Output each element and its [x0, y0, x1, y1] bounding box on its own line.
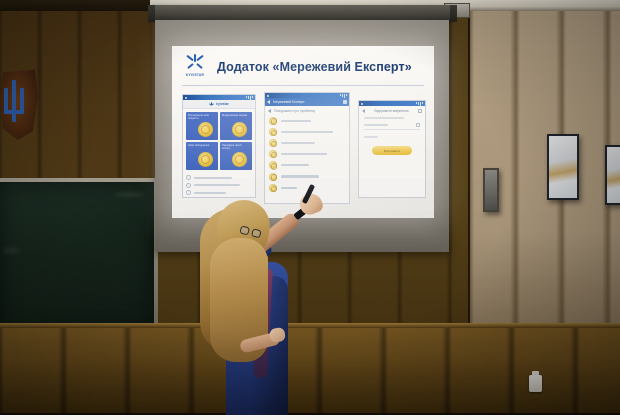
chevron-right-icon [268, 109, 271, 113]
green-chalkboard [0, 178, 158, 340]
coin-icon [232, 152, 247, 167]
field-label [364, 136, 378, 138]
address-field[interactable] [364, 123, 420, 130]
form-body: Відправити [359, 114, 425, 158]
location-pin-icon[interactable] [416, 123, 420, 127]
screen-housing-right-end [450, 5, 457, 22]
coin-icon [269, 150, 277, 158]
coin-icon [198, 152, 213, 167]
projector-screen-housing [152, 5, 452, 20]
signal-bars-icon [340, 94, 347, 98]
screen-subtitle: Повідомити про проблему [274, 109, 315, 113]
signal-bars-icon [416, 102, 423, 106]
coin-icon [269, 139, 277, 147]
coin-icon [198, 122, 213, 137]
signal-bars-icon [246, 96, 253, 100]
overflow-menu-icon[interactable] [343, 100, 347, 104]
app-tile[interactable]: Нове обладнання [186, 142, 218, 170]
framed-plaque-small [483, 168, 499, 212]
screen-housing-left-end [148, 5, 155, 22]
star-icon [184, 54, 206, 73]
slide-header: KYIVSTAR Додаток «Мережевий Експерт» [172, 50, 434, 84]
form-header: Відправити звернення [359, 106, 425, 114]
list-item[interactable] [265, 126, 349, 137]
back-arrow-icon[interactable] [267, 100, 270, 104]
list-item[interactable] [186, 175, 252, 180]
chalkboard-surface [0, 182, 154, 336]
list-item[interactable] [265, 149, 349, 160]
coin-icon [232, 122, 247, 137]
app-tile-label: Модернізація мережі [222, 114, 250, 117]
coin-icon [269, 161, 277, 169]
app-tile-grid: Розширення зони покриття Модернізація ме… [183, 109, 255, 173]
ceiling-strip-shadowed [0, 0, 150, 11]
problem-rows [265, 115, 349, 193]
lecture-room-photo: KYIVSTAR Додаток «Мережевий Експерт» [0, 0, 620, 420]
screen-subtitle-row: Повідомити про проблему [265, 106, 349, 115]
app-tile[interactable]: Перевірка якості зв'язку [220, 142, 252, 170]
slide-title: Додаток «Мережевий Експерт» [217, 60, 412, 74]
app-home-grid-screen: kyivstar Розширення зони покриття Модерн… [182, 94, 256, 198]
photo-bottom-border [0, 415, 620, 420]
submit-button-label: Відправити [384, 149, 400, 153]
app-tile-label: Розширення зони покриття [188, 114, 216, 121]
app-brand-label: kyivstar [216, 102, 228, 106]
framed-certificate-1 [547, 134, 579, 200]
report-form-screen: Відправити звернення Відправити [358, 100, 426, 198]
overflow-menu-icon[interactable] [418, 109, 422, 113]
kyivstar-mini-star-icon [209, 102, 214, 107]
power-outlet [529, 375, 542, 392]
list-bullet-icon [186, 190, 191, 195]
list-item[interactable] [265, 137, 349, 148]
ukrainian-coat-of-arms [0, 68, 38, 140]
app-brand-bar: kyivstar [183, 100, 255, 109]
back-arrow-icon[interactable] [362, 109, 365, 113]
status-dot-icon [267, 95, 269, 97]
coin-icon [269, 128, 277, 136]
title-divider [182, 85, 424, 86]
list-item[interactable] [265, 115, 349, 126]
presenter-woman [196, 186, 346, 420]
submit-button[interactable]: Відправити [372, 146, 412, 155]
app-tile-label: Нове обладнання [188, 144, 216, 147]
app-tile[interactable]: Модернізація мережі [220, 112, 252, 140]
app-bar-title: Мережевий Експерт [273, 100, 340, 104]
list-item[interactable] [265, 171, 349, 182]
coin-icon [269, 117, 277, 125]
list-bullet-icon [186, 175, 191, 180]
kyivstar-wordmark: KYIVSTAR [182, 73, 208, 77]
status-dot-icon [361, 103, 363, 105]
list-item[interactable] [265, 160, 349, 171]
coin-icon [269, 173, 277, 181]
kyivstar-logo: KYIVSTAR [182, 54, 208, 81]
tryzub-icon [2, 80, 26, 126]
app-tile[interactable]: Розширення зони покриття [186, 112, 218, 140]
app-bar: Мережевий Експерт [265, 98, 349, 106]
framed-certificate-2 [605, 145, 620, 205]
status-dot-icon [185, 97, 187, 99]
app-tile-label: Перевірка якості зв'язку [222, 144, 250, 151]
list-bullet-icon [186, 183, 191, 188]
field-label [364, 117, 404, 119]
form-title: Відправити звернення [368, 109, 415, 113]
